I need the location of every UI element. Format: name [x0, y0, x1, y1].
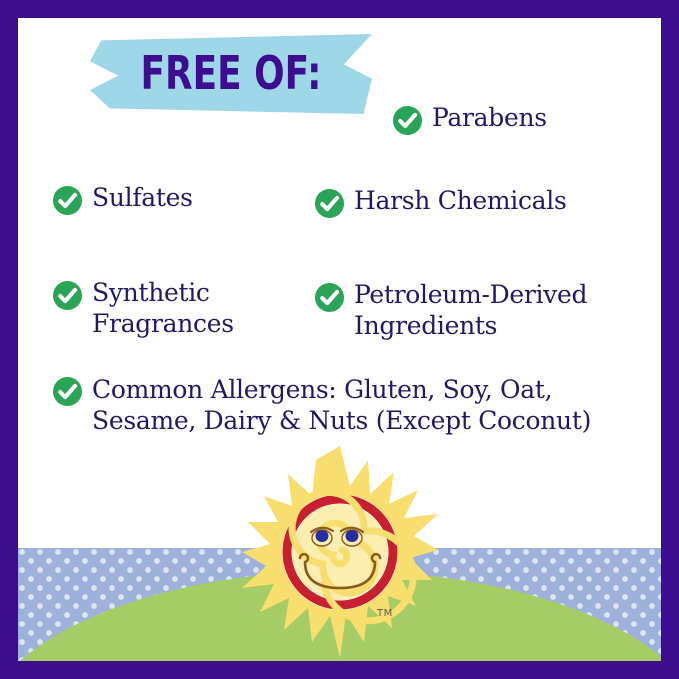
free-of-item-label: Synthetic Fragrances: [92, 278, 234, 339]
trademark-mark: TM: [377, 608, 393, 619]
check-circle-icon: [52, 280, 83, 311]
check-circle-icon: [392, 105, 423, 136]
free-of-item-label: Harsh Chemicals: [354, 186, 567, 217]
free-of-callout-card: FREE OF: Parabens Sulfates Harsh Chemica…: [0, 0, 679, 679]
free-of-item-sulfates: Sulfates: [52, 183, 193, 216]
free-of-item-label: Parabens: [432, 103, 547, 134]
free-of-item-petroleum-derived: Petroleum-Derived Ingredients: [314, 280, 587, 341]
banner-title: FREE OF:: [121, 33, 341, 113]
check-circle-icon: [52, 185, 83, 216]
check-circle-icon: [314, 282, 345, 313]
card-inner-panel: FREE OF: Parabens Sulfates Harsh Chemica…: [18, 18, 661, 661]
free-of-item-label: Sulfates: [92, 183, 193, 214]
free-of-item-harsh-chemicals: Harsh Chemicals: [314, 186, 567, 219]
free-of-item-parabens: Parabens: [392, 103, 547, 136]
free-of-item-common-allergens: Common Allergens: Gluten, Soy, Oat, Sesa…: [52, 374, 591, 436]
check-circle-icon: [52, 376, 83, 407]
smiling-sun-logo: [242, 446, 438, 658]
check-circle-icon: [314, 188, 345, 219]
free-of-item-label: Common Allergens: Gluten, Soy, Oat, Sesa…: [92, 374, 591, 436]
free-of-item-synthetic-fragrances: Synthetic Fragrances: [52, 278, 234, 339]
free-of-item-label: Petroleum-Derived Ingredients: [354, 280, 587, 341]
free-of-banner: FREE OF:: [90, 34, 372, 114]
